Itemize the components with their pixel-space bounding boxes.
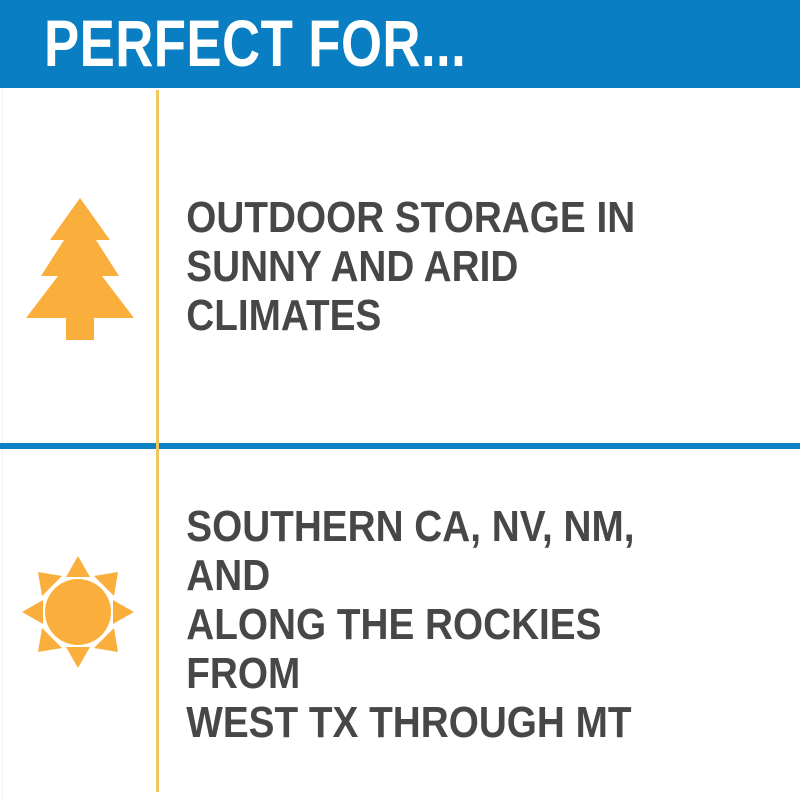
pine-tree-icon (24, 196, 136, 342)
text-cell-regions: SOUTHERN CA, NV, NM, AND ALONG THE ROCKI… (159, 449, 800, 800)
perfect-for-infographic: PERFECT FOR... OUTDOOR STORAGE IN SUNNY … (0, 0, 800, 800)
horizontal-divider (0, 443, 800, 449)
page-title: PERFECT FOR... (44, 8, 466, 78)
feature-headline-regions: SOUTHERN CA, NV, NM, AND ALONG THE ROCKI… (159, 502, 723, 747)
feature-headline-outdoor-storage: OUTDOOR STORAGE IN SUNNY AND ARID CLIMAT… (159, 193, 723, 340)
vertical-divider (156, 90, 159, 792)
text-cell-outdoor-storage: OUTDOOR STORAGE IN SUNNY AND ARID CLIMAT… (159, 89, 800, 443)
sun-icon (22, 556, 134, 668)
header-band: PERFECT FOR... (0, 0, 800, 88)
